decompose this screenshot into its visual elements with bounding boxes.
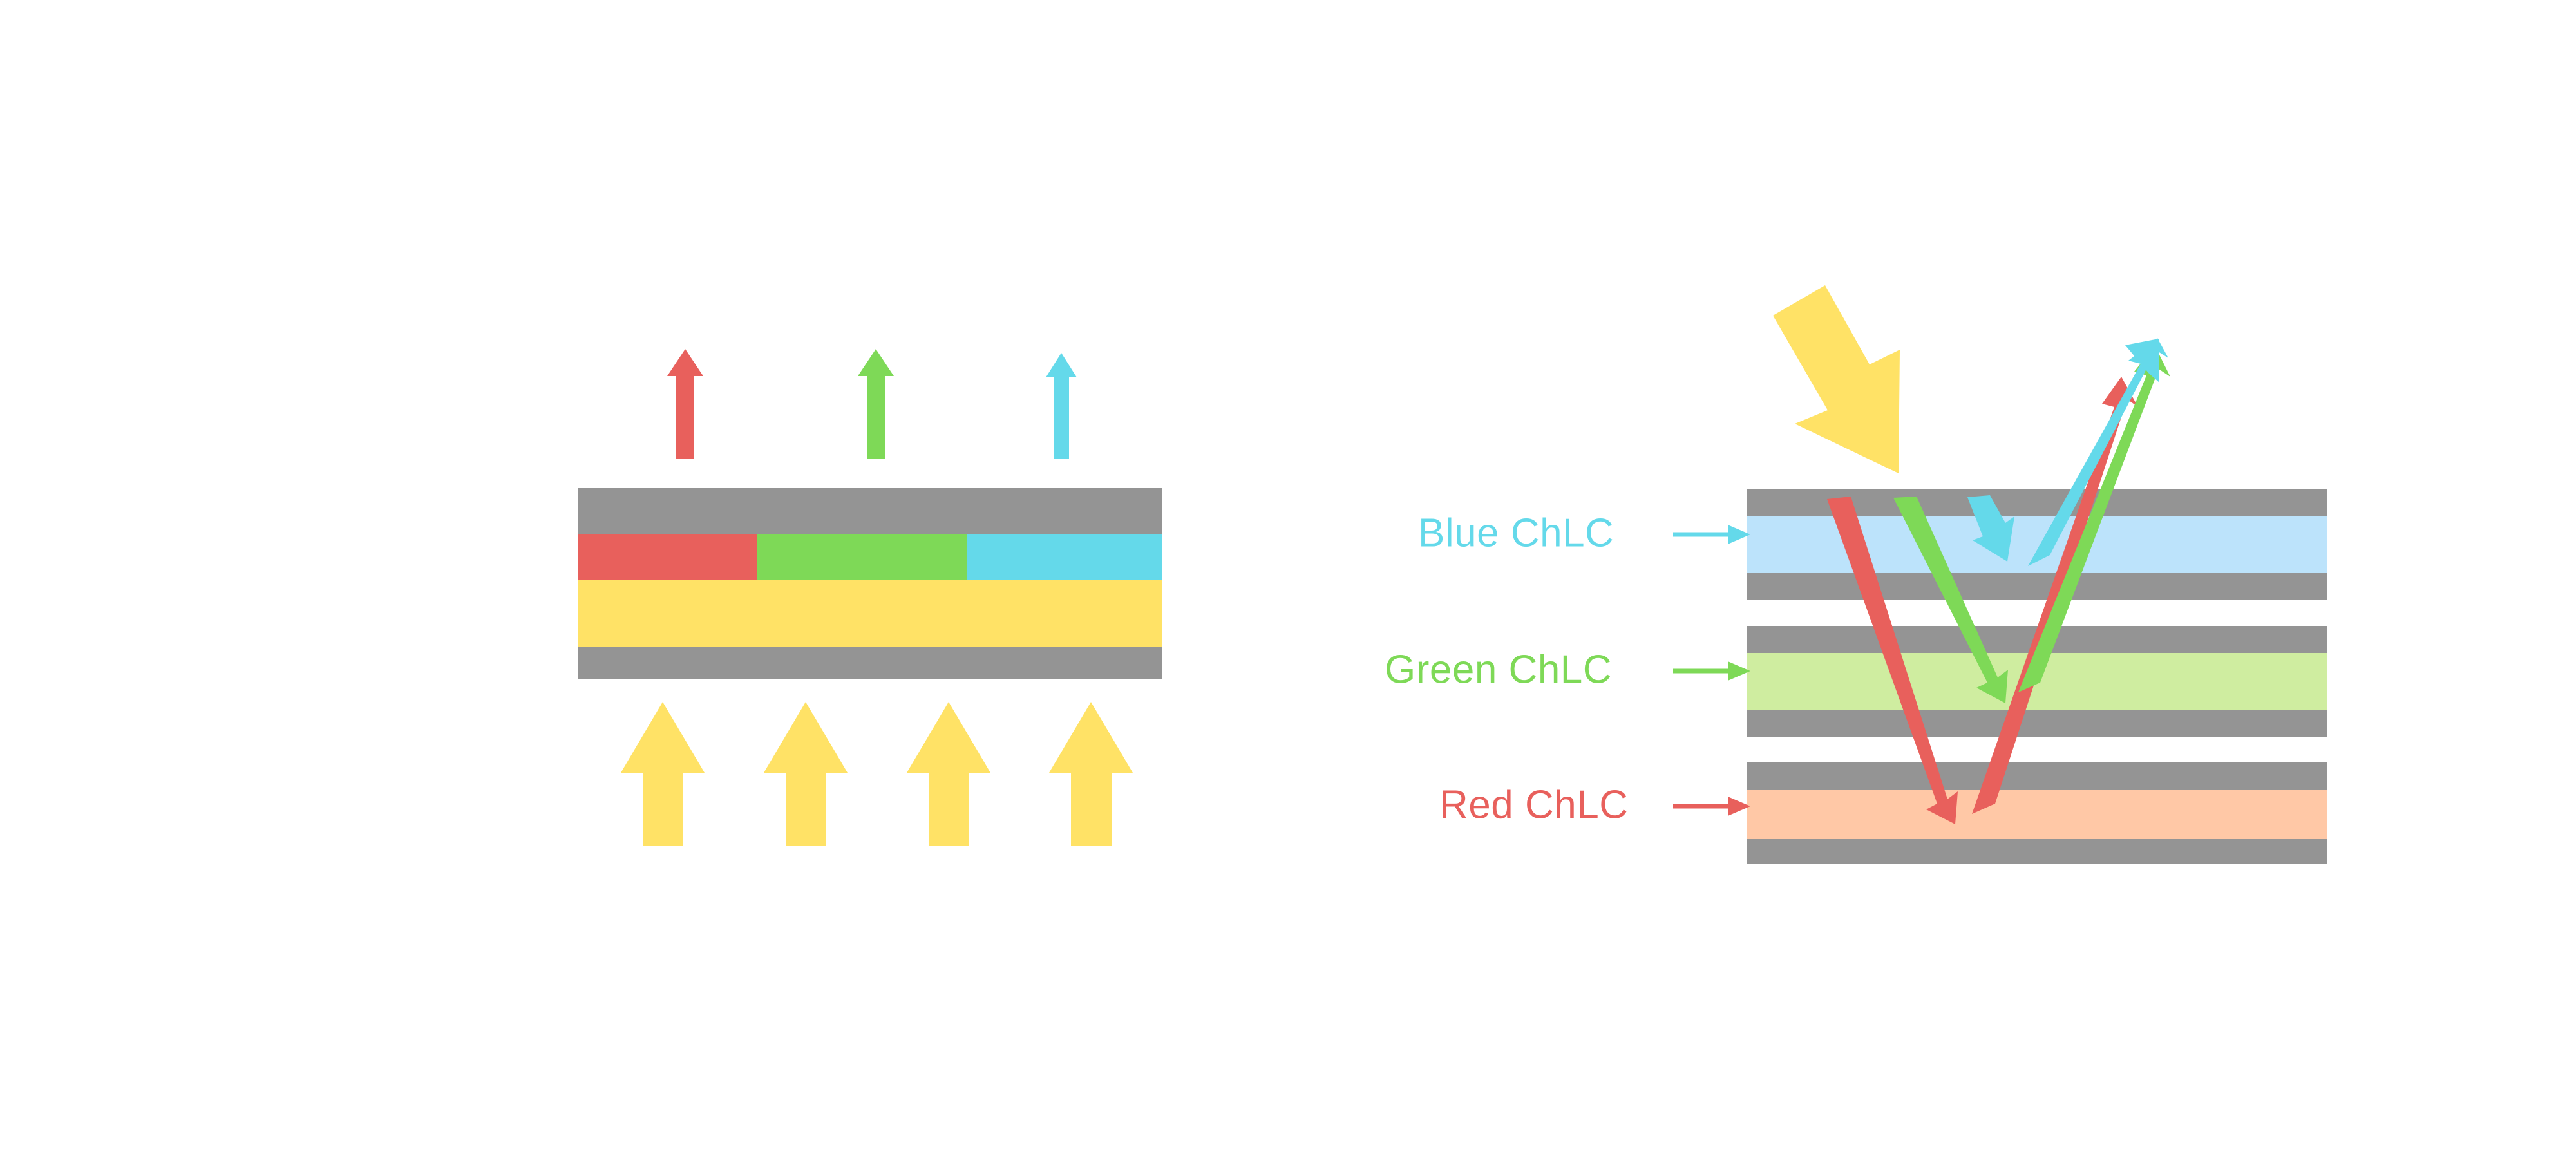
left-green-segment [757,534,967,580]
left-panel [578,349,1162,846]
green-chlc-label-arrow-head [1728,661,1750,681]
red-chlc-layer [1747,790,2327,839]
diagram-canvas: Blue ChLC Green ChLC Red ChLC [0,0,2576,1154]
backlight-arrow [764,702,848,846]
red-chlc-label-text: Red ChLC [1439,782,1628,827]
blue-chlc-label-text: Blue ChLC [1418,511,1614,555]
red-cell-bottom-electrode [1747,839,2327,864]
left-top-electrode [578,488,1162,534]
incident-light-arrow [1773,285,1900,473]
blue-cell-bottom-electrode [1747,573,2327,600]
left-red-segment [578,534,757,580]
left-backlight-arrows [621,702,1133,846]
red-cell-top-electrode [1747,762,2327,790]
red-emitted-arrow [667,349,703,459]
blue-chlc-label-arrow-head [1728,525,1750,544]
green-cell-bottom-electrode [1747,710,2327,737]
left-cyan-segment [967,534,1162,580]
blue-chlc-layer [1747,516,2327,573]
right-panel-labels: Blue ChLC Green ChLC Red ChLC [1385,511,1750,827]
left-emitted-arrows [667,349,1077,459]
green-emitted-arrow [858,349,894,459]
right-panel: Blue ChLC Green ChLC Red ChLC [1385,285,2327,864]
backlight-arrow [907,702,990,846]
backlight-arrow [621,702,705,846]
left-bottom-electrode [578,647,1162,679]
red-chlc-label-arrow-head [1728,797,1750,816]
left-backlight-layer [578,580,1162,647]
red-chlc-cell [1747,762,2327,864]
green-chlc-label-text: Green ChLC [1385,647,1612,692]
cyan-emitted-arrow [1046,353,1077,459]
backlight-arrow [1049,702,1133,846]
left-stack [578,488,1162,679]
